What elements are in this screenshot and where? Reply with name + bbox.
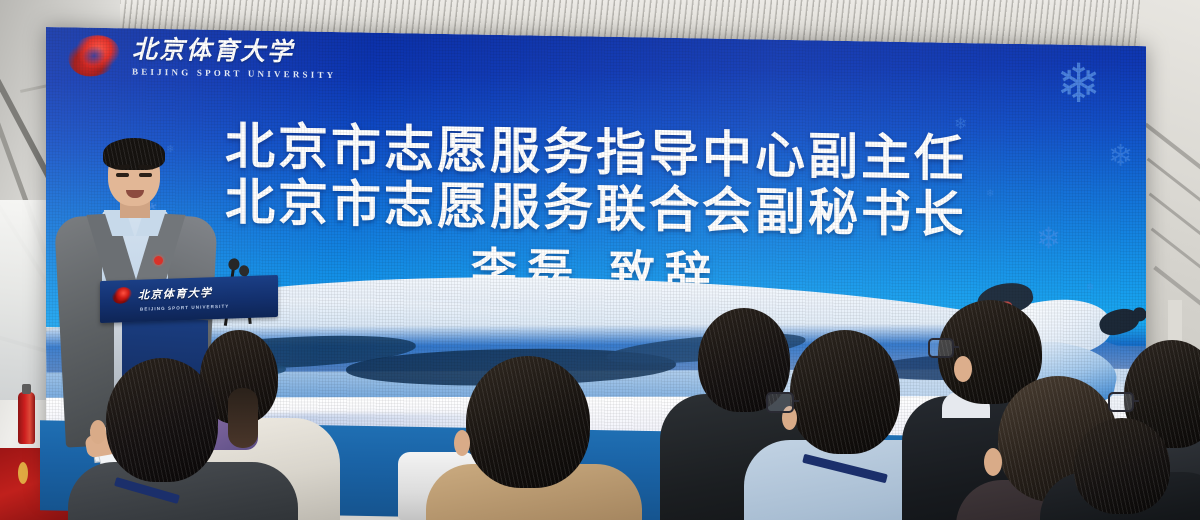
brand-name-cn: 北京体育大学 [132,37,336,67]
glasses-icon [766,392,794,413]
audience-head [1074,418,1170,514]
podium-front-panel: 北京体育大学 BEIJING SPORT UNIVERSITY [100,275,278,323]
lapel-pin-icon [154,256,163,265]
banner-ornament [18,462,28,484]
audience-head [106,358,218,482]
frame-strut [1144,123,1200,182]
screen-brand-logo: 北京体育大学 BEIJING SPORT UNIVERSITY [68,35,336,80]
audience-ear [954,356,972,382]
speaker-eye [139,173,152,177]
brand-text: 北京体育大学 BEIJING SPORT UNIVERSITY [132,37,336,80]
audience-head [466,356,590,488]
podium-brand-logo: 北京体育大学 BEIJING SPORT UNIVERSITY [112,284,212,304]
audience-member [1056,430,1200,520]
podium-brand-name-cn: 北京体育大学 [138,284,212,303]
audience-ear [454,430,470,456]
bsu-swirl-logo-icon [68,35,120,76]
audience-member [78,358,278,520]
fire-extinguisher-icon [18,392,35,444]
frame-strut [1151,228,1200,286]
frame-strut [1149,193,1200,251]
glasses-icon [1108,392,1134,412]
speaker-hair [103,138,165,170]
event-photo-scene: ❄ ❄ ❄ ❄ ❄ ❄ ❄ ❄ ❄ 北京体育大学 BEIJING SPORT U… [0,0,1200,520]
frame-strut [1147,158,1200,216]
audience-ear [90,420,106,444]
glasses-icon [928,338,954,358]
audience-member [432,356,632,520]
snowflake-icon: ❄ [1056,57,1101,112]
audience-head [790,330,900,454]
speaker-eye [116,173,129,177]
audience-ear [984,448,1002,476]
bsu-swirl-logo-icon [110,284,134,306]
podium-brand-name-en: BEIJING SPORT UNIVERSITY [140,304,229,312]
